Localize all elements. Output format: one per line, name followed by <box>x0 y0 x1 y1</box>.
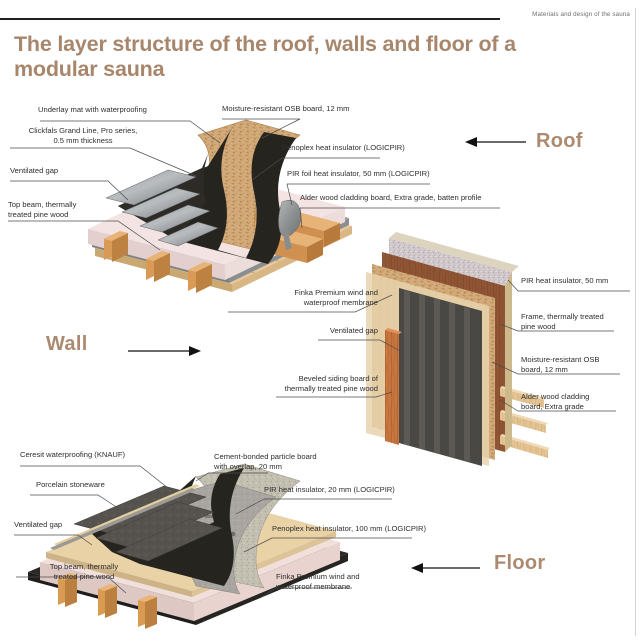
label-roof-underlay: Underlay mat with waterproofing <box>38 105 147 115</box>
label-roof-penoplex: Penoplex heat insulator (LOGICPIR) <box>282 143 405 153</box>
header-rule <box>0 18 500 20</box>
leader-wall-pir-d <box>508 280 518 291</box>
pir-foil-markings <box>198 515 235 574</box>
leader-roof-penoplex-d <box>252 158 282 180</box>
label-wall-alder: Alder wood cladding board, Extra grade <box>521 392 589 411</box>
page-title: The layer structure of the roof, walls a… <box>14 32 574 82</box>
page-edge-rule <box>635 8 636 636</box>
leader-wall-osb-d <box>492 362 518 374</box>
leader-roof-osb <box>222 119 300 138</box>
leader-floor-finka-d <box>260 588 276 598</box>
label-floor-finka: Finka Premium wind and waterproof membra… <box>276 572 360 591</box>
label-wall-osb: Moisture-resistant OSB board, 12 mm <box>521 355 600 374</box>
leader-floor-pir-d <box>236 499 264 514</box>
label-floor-cement: Cement-bonded particle board with overla… <box>214 452 317 471</box>
label-floor-penoplex: Penoplex heat insulator, 100 mm (LOGICPI… <box>272 524 426 534</box>
diagram-page: Materials and design of the sauna The la… <box>0 0 644 644</box>
section-word-roof: Roof <box>536 130 583 153</box>
leader-floor-penoplex-d <box>244 538 272 552</box>
arrow-roof <box>465 137 526 147</box>
leader-roof-ventgap <box>10 181 128 200</box>
leader-roof-pirfoil-d <box>287 184 292 205</box>
leader-floor-porcelain <box>30 495 118 508</box>
running-head: Materials and design of the sauna <box>505 11 630 18</box>
label-floor-pir: PIR heat insulator, 20 mm (LOGICPIR) <box>264 485 395 495</box>
leader-wall-alder-d <box>500 400 518 411</box>
label-wall-ventgap: Ventilated gap <box>258 326 378 336</box>
section-word-floor: Floor <box>494 552 546 575</box>
label-floor-ceresit: Ceresit waterproofing (KNAUF) <box>20 450 125 460</box>
roof-beams <box>104 231 212 293</box>
wall-batten-strips <box>404 290 470 462</box>
floor-posts <box>58 573 157 629</box>
roof-beams-upper <box>235 204 340 263</box>
roof-metal-panels <box>106 170 218 246</box>
label-wall-beveled: Beveled siding board of thermally treate… <box>196 374 378 393</box>
label-floor-ventgap: Ventilated gap <box>14 520 62 530</box>
label-roof-pirfoil: PIR foil heat insulator, 50 mm (LOGICPIR… <box>287 169 430 179</box>
wall-illustration <box>366 232 550 466</box>
leader-floor-cement-d <box>196 473 208 481</box>
label-floor-porcelain: Porcelain stoneware <box>36 480 105 490</box>
label-wall-pir: PIR heat insulator, 50 mm <box>521 276 608 286</box>
label-wall-finka: Finka Premium wind and waterproof membra… <box>208 288 378 307</box>
section-word-wall: Wall <box>46 333 88 356</box>
floor-tiles <box>74 486 222 561</box>
label-roof-ventgap: Ventilated gap <box>10 166 58 176</box>
leader-wall-ventgap <box>318 340 402 352</box>
arrow-floor <box>411 563 480 573</box>
label-roof-clickfals: Clickfals Grand Line, Pro series, 0.5 mm… <box>8 126 158 145</box>
leader-floor-ventgap <box>14 535 92 545</box>
label-wall-frame: Frame, thermally treated pine wood <box>521 312 604 331</box>
label-floor-topbeam: Top beam, thermally treated pine wood <box>14 562 154 581</box>
leader-wall-frame-d <box>500 324 518 331</box>
leader-roof-alder-d <box>300 208 302 228</box>
label-roof-alder: Alder wood cladding board, Extra grade, … <box>300 193 482 203</box>
label-roof-osb: Moisture-resistant OSB board, 12 mm <box>222 104 349 114</box>
label-roof-topbeam: Top beam, thermally treated pine wood <box>8 200 76 219</box>
arrow-wall <box>128 346 201 356</box>
leader-roof-topbeam <box>8 221 160 250</box>
